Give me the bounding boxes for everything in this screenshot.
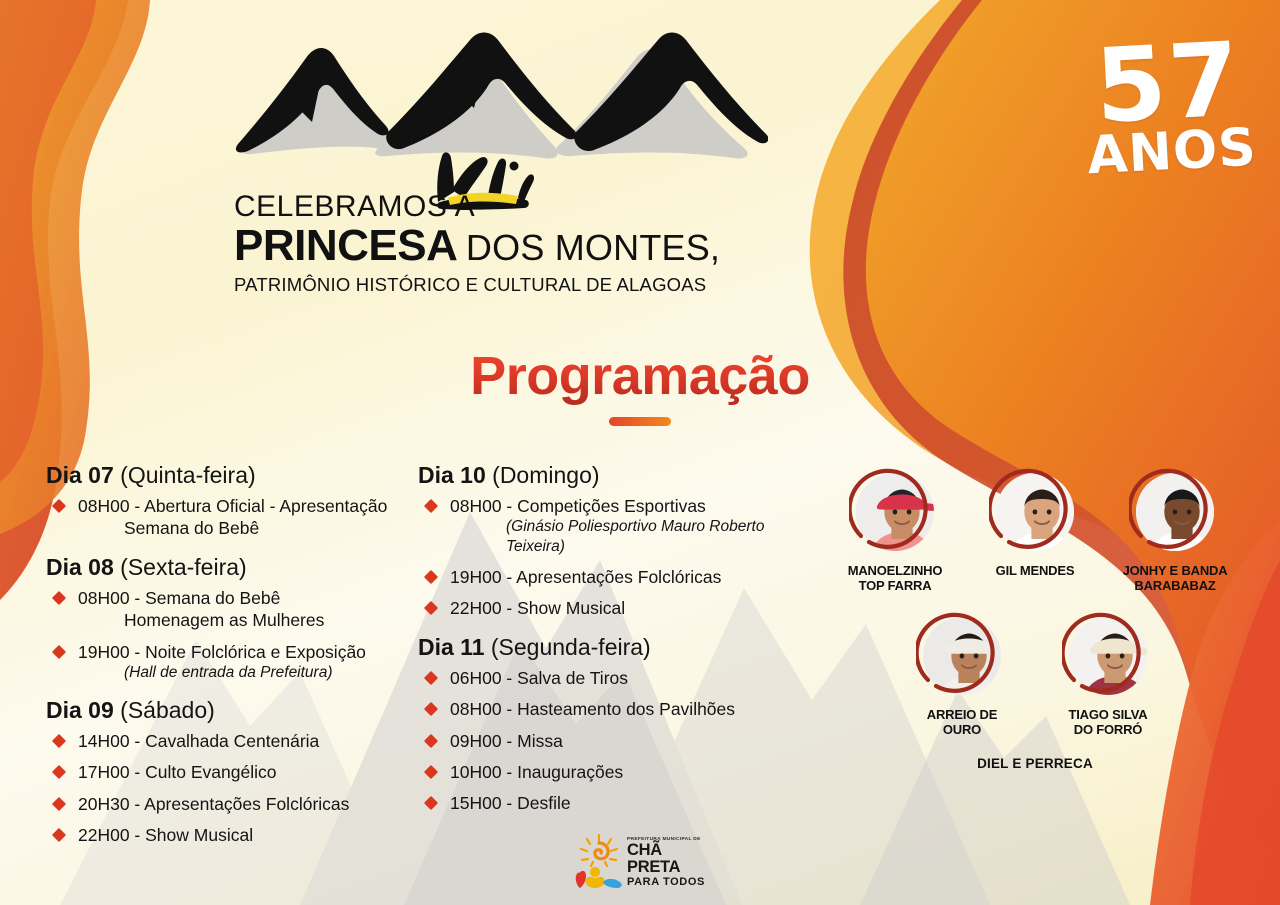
ring-arc-icon xyxy=(916,610,1008,702)
schedule-item-text: 20H30 - Apresentações Folclóricas xyxy=(78,794,349,814)
artist-row-1: MANOELZINHOTOP FARRA GIL MENDES JONHY E … xyxy=(826,466,1244,594)
schedule-list: 08H00 - Abertura Oficial - ApresentaçãoS… xyxy=(46,495,406,540)
artist-row-2: ARREIO DEOURO TIAGO SILVADO FORRÓ xyxy=(826,610,1244,738)
artist-photo-ring xyxy=(989,466,1081,558)
logo-marks xyxy=(573,833,627,889)
schedule-column-1: Dia 07 (Quinta-feira)08H00 - Abertura Of… xyxy=(46,462,406,860)
schedule-item: 20H30 - Apresentações Folclóricas xyxy=(46,793,406,815)
schedule-item: 22H00 - Show Musical xyxy=(46,824,406,846)
anniversary-label: ANOS xyxy=(1086,123,1258,181)
schedule-list: 06H00 - Salva de Tiros08H00 - Hasteament… xyxy=(418,667,818,815)
day-label: Dia 09 xyxy=(46,697,114,723)
day-label: Dia 07 xyxy=(46,462,114,488)
day-weekday: (Domingo) xyxy=(486,462,600,488)
diamond-bullet-icon xyxy=(52,499,66,513)
logo-prefix: PREFEITURA MUNICIPAL DE xyxy=(627,836,724,841)
schedule-item: 08H00 - Hasteamento dos Pavilhões xyxy=(418,698,818,720)
schedule-item-text: 14H00 - Cavalhada Centenária xyxy=(78,731,319,751)
schedule-item-text: 08H00 - Hasteamento dos Pavilhões xyxy=(450,699,735,719)
schedule-item-text: 19H00 - Apresentações Folclóricas xyxy=(450,567,721,587)
day-group: Dia 08 (Sexta-feira)08H00 - Semana do Be… xyxy=(46,554,406,683)
diamond-bullet-icon xyxy=(52,644,66,658)
schedule-item-text: 15H00 - Desfile xyxy=(450,793,571,813)
schedule-item-text: 22H00 - Show Musical xyxy=(450,598,625,618)
artist-name: ARREIO DEOURO xyxy=(904,708,1020,738)
day-label: Dia 10 xyxy=(418,462,486,488)
schedule-item: 14H00 - Cavalhada Centenária xyxy=(46,730,406,752)
brand-logo: CELEBRAMOS A PRINCESA DOS MONTES, PATRIM… xyxy=(228,22,768,287)
schedule-list: 08H00 - Semana do BebêHomenagem as Mulhe… xyxy=(46,587,406,683)
day-weekday: (Sábado) xyxy=(114,697,215,723)
day-weekday: (Sexta-feira) xyxy=(114,554,247,580)
logo-princesa: PRINCESA xyxy=(234,221,457,270)
artist-name: JONHY E BANDABARABABAZ xyxy=(1117,564,1233,594)
day-heading: Dia 08 (Sexta-feira) xyxy=(46,554,406,581)
schedule-item-note: (Ginásio Poliesportivo Mauro Roberto Tei… xyxy=(450,517,818,557)
schedule-item-note: (Hall de entrada da Prefeitura) xyxy=(78,663,406,683)
day-group: Dia 09 (Sábado)14H00 - Cavalhada Centená… xyxy=(46,697,406,847)
schedule-item-text: 08H00 - Semana do Bebê xyxy=(78,588,280,608)
day-label: Dia 08 xyxy=(46,554,114,580)
artist-card: GIL MENDES xyxy=(977,466,1093,594)
schedule-item: 08H00 - Abertura Oficial - ApresentaçãoS… xyxy=(46,495,406,540)
anniversary-number: 57 xyxy=(1081,38,1255,130)
diamond-bullet-icon xyxy=(424,570,438,584)
schedule-item: 17H00 - Culto Evangélico xyxy=(46,761,406,783)
diamond-bullet-icon xyxy=(424,601,438,615)
page-title: Programação xyxy=(0,345,1280,426)
logo-tagline: PARA TODOS xyxy=(627,877,719,888)
schedule-item-line2: Homenagem as Mulheres xyxy=(78,609,406,631)
artist-name: MANOELZINHOTOP FARRA xyxy=(837,564,953,594)
logo-line-2: PRINCESA DOS MONTES, xyxy=(234,221,764,271)
diamond-bullet-icon xyxy=(52,734,66,748)
diamond-bullet-icon xyxy=(52,765,66,779)
day-weekday: (Segunda-feira) xyxy=(485,634,651,660)
ring-arc-icon xyxy=(1062,610,1154,702)
schedule-list: 08H00 - Competições Esportivas(Ginásio P… xyxy=(418,495,818,620)
day-heading: Dia 11 (Segunda-feira) xyxy=(418,634,818,661)
day-group: Dia 07 (Quinta-feira)08H00 - Abertura Of… xyxy=(46,462,406,540)
artist-card: TIAGO SILVADO FORRÓ xyxy=(1050,610,1166,738)
schedule-item: 22H00 - Show Musical xyxy=(418,597,818,619)
schedule-item: 10H00 - Inaugurações xyxy=(418,761,818,783)
schedule-item-line2: Semana do Bebê xyxy=(78,517,406,539)
schedule-item: 15H00 - Desfile xyxy=(418,792,818,814)
artist-photo-ring xyxy=(1062,610,1154,702)
diamond-bullet-icon xyxy=(52,828,66,842)
artist-card: MANOELZINHOTOP FARRA xyxy=(837,466,953,594)
diamond-bullet-icon xyxy=(424,765,438,779)
day-group: Dia 11 (Segunda-feira)06H00 - Salva de T… xyxy=(418,634,818,815)
diamond-bullet-icon xyxy=(424,671,438,685)
schedule-item: 06H00 - Salva de Tiros xyxy=(418,667,818,689)
schedule-item-text: 08H00 - Abertura Oficial - Apresentação xyxy=(78,496,387,516)
ring-arc-icon xyxy=(989,466,1081,558)
schedule-item-text: 17H00 - Culto Evangélico xyxy=(78,762,276,782)
schedule-item: 19H00 - Apresentações Folclóricas xyxy=(418,566,818,588)
people-icon xyxy=(576,867,622,888)
artist-photo-ring xyxy=(916,610,1008,702)
artist-photo-ring xyxy=(849,466,941,558)
day-heading: Dia 10 (Domingo) xyxy=(418,462,818,489)
logo-dos-montes: DOS MONTES, xyxy=(466,227,720,268)
ring-arc-icon xyxy=(1129,466,1221,558)
artist-lineup: MANOELZINHOTOP FARRA GIL MENDES JONHY E … xyxy=(826,466,1244,771)
schedule-item-text: 06H00 - Salva de Tiros xyxy=(450,668,628,688)
diamond-bullet-icon xyxy=(52,796,66,810)
schedule-item-text: 08H00 - Competições Esportivas xyxy=(450,496,706,516)
schedule-item-text: 10H00 - Inaugurações xyxy=(450,762,623,782)
schedule-item: 09H00 - Missa xyxy=(418,730,818,752)
day-label: Dia 11 xyxy=(418,634,485,660)
schedule-item: 19H00 - Noite Folclórica e Exposição(Hal… xyxy=(46,641,406,683)
schedule-item-text: 22H00 - Show Musical xyxy=(78,825,253,845)
schedule-item: 08H00 - Competições Esportivas(Ginásio P… xyxy=(418,495,818,557)
diamond-bullet-icon xyxy=(424,499,438,513)
anniversary-badge: 57 ANOS xyxy=(1081,38,1257,182)
logo-line-3: PATRIMÔNIO HISTÓRICO E CULTURAL DE ALAGO… xyxy=(234,274,764,296)
day-heading: Dia 09 (Sábado) xyxy=(46,697,406,724)
sun-icon xyxy=(581,835,617,866)
diamond-bullet-icon xyxy=(424,796,438,810)
schedule-list: 14H00 - Cavalhada Centenária17H00 - Cult… xyxy=(46,730,406,847)
programacao-heading: Programação xyxy=(470,345,810,407)
schedule-item-text: 19H00 - Noite Folclórica e Exposição xyxy=(78,642,366,662)
diamond-bullet-icon xyxy=(424,702,438,716)
logo-line-1: CELEBRAMOS A xyxy=(234,190,764,224)
day-group: Dia 10 (Domingo)08H00 - Competições Espo… xyxy=(418,462,818,620)
logo-city: CHÃ PRETA xyxy=(627,842,719,875)
artist-extra: DIEL E PERRECA xyxy=(826,756,1244,771)
artist-name: GIL MENDES xyxy=(977,564,1093,579)
artist-photo-ring xyxy=(1129,466,1221,558)
ring-arc-icon xyxy=(849,466,941,558)
artist-card: JONHY E BANDABARABABAZ xyxy=(1117,466,1233,594)
event-poster: CELEBRAMOS A PRINCESA DOS MONTES, PATRIM… xyxy=(0,0,1280,905)
diamond-bullet-icon xyxy=(52,591,66,605)
day-weekday: (Quinta-feira) xyxy=(114,462,256,488)
diamond-bullet-icon xyxy=(424,734,438,748)
city-hall-logo: PREFEITURA MUNICIPAL DE CHÃ PRETA PARA T… xyxy=(573,833,713,889)
artist-card: ARREIO DEOURO xyxy=(904,610,1020,738)
schedule-column-2: Dia 10 (Domingo)08H00 - Competições Espo… xyxy=(418,462,818,829)
schedule-item-text: 09H00 - Missa xyxy=(450,731,563,751)
day-heading: Dia 07 (Quinta-feira) xyxy=(46,462,406,489)
artist-name: TIAGO SILVADO FORRÓ xyxy=(1050,708,1166,738)
schedule-item: 08H00 - Semana do BebêHomenagem as Mulhe… xyxy=(46,587,406,632)
title-accent-bar xyxy=(609,417,671,426)
